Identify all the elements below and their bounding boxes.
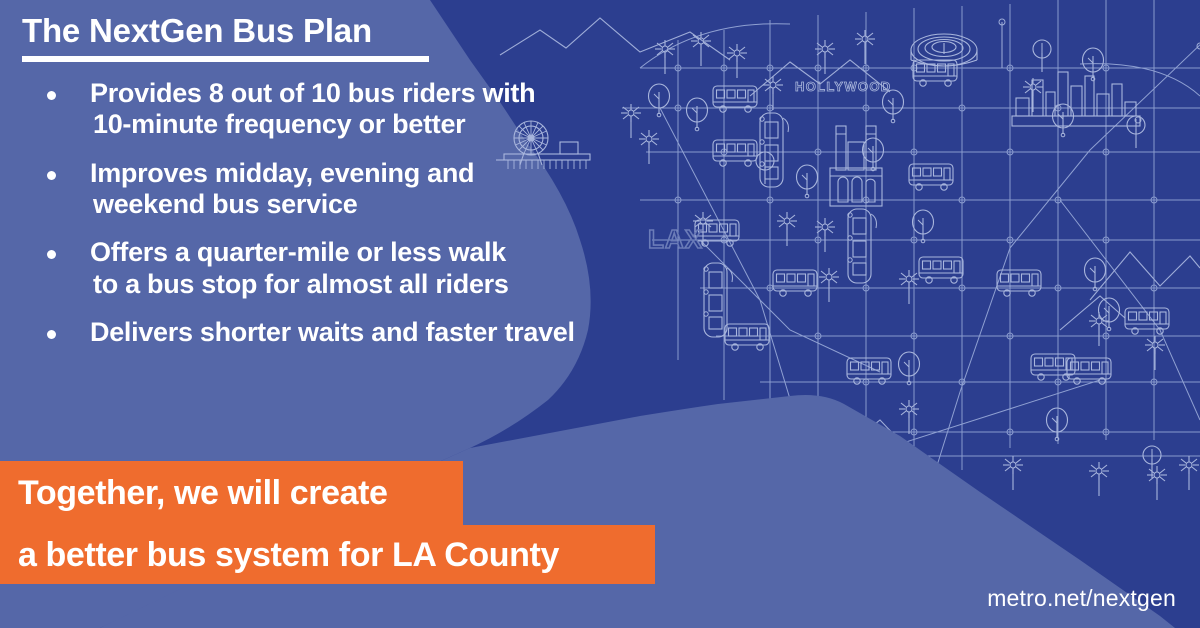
website-url[interactable]: metro.net/nextgen (987, 585, 1176, 612)
list-item-line: weekend bus service (90, 189, 680, 220)
nextgen-bus-plan-poster: HOLLYWOOD (0, 0, 1200, 628)
list-item: Provides 8 out of 10 bus riders with 10-… (30, 78, 680, 141)
list-item: Delivers shorter waits and faster travel (30, 317, 680, 348)
list-item: Offers a quarter-mile or less walk to a … (30, 237, 680, 300)
bullet-dot-icon (47, 171, 56, 180)
page-title: The NextGen Bus Plan (22, 14, 582, 49)
bullet-dot-icon (47, 330, 56, 339)
list-item-line: to a bus stop for almost all riders (90, 269, 680, 300)
title-underline-rule (22, 56, 429, 62)
poster-content: The NextGen Bus Plan Provides 8 out of 1… (0, 0, 1200, 628)
benefits-list: Provides 8 out of 10 bus riders with 10-… (30, 78, 680, 365)
list-item-line: Improves midday, evening and (90, 158, 680, 189)
banner-line-1: Together, we will create (0, 461, 463, 525)
list-item-line: Delivers shorter waits and faster travel (90, 317, 680, 348)
call-to-action-banner: Together, we will create a better bus sy… (0, 461, 655, 584)
banner-line-2: a better bus system for LA County (0, 525, 655, 584)
list-item-line: Offers a quarter-mile or less walk (90, 237, 680, 268)
list-item: Improves midday, evening and weekend bus… (30, 158, 680, 221)
bullet-dot-icon (47, 91, 56, 100)
bullet-dot-icon (47, 250, 56, 259)
list-item-line: Provides 8 out of 10 bus riders with (90, 78, 680, 109)
headline-block: The NextGen Bus Plan (22, 14, 582, 62)
list-item-line: 10-minute frequency or better (90, 109, 680, 140)
